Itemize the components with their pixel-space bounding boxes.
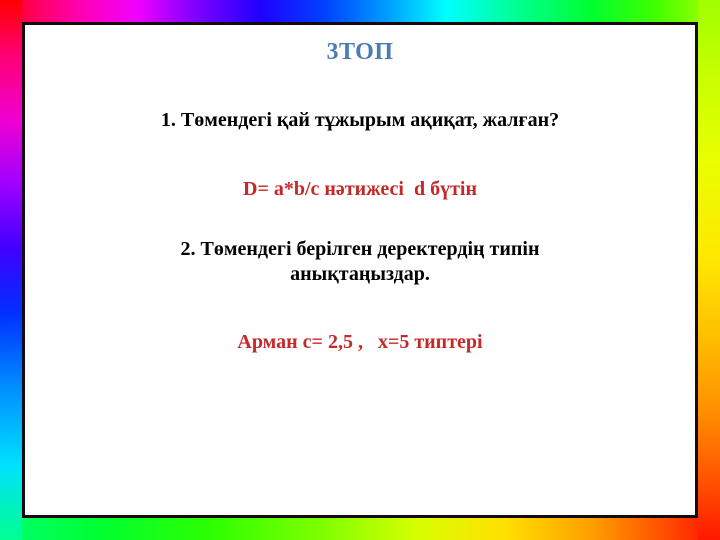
content-panel: 3ТОП 1. Төмендегі қай тұжырым ақиқат, жа… <box>22 22 698 518</box>
question-2-text-line2: анықтаңыздар. <box>51 262 669 286</box>
slide: 3ТОП 1. Төмендегі қай тұжырым ақиқат, жа… <box>0 0 720 540</box>
question-1-answer: D= a*b/c нәтижесі d бүтін <box>51 133 669 201</box>
rainbow-border-bottom <box>0 518 720 540</box>
question-2-text-line1: 2. Төмендегі берілген деректердің типін <box>51 201 669 261</box>
rainbow-border-top <box>0 0 720 22</box>
question-1-text: 1. Төмендегі қай тұжырым ақиқат, жалған? <box>51 65 669 132</box>
rainbow-border-right <box>698 0 720 540</box>
content-panel-inner: 3ТОП 1. Төмендегі қай тұжырым ақиқат, жа… <box>25 25 695 515</box>
question-2-answer: Арман с= 2,5 , х=5 типтері <box>51 286 669 354</box>
slide-title: 3ТОП <box>51 25 669 65</box>
rainbow-border-left <box>0 0 22 540</box>
